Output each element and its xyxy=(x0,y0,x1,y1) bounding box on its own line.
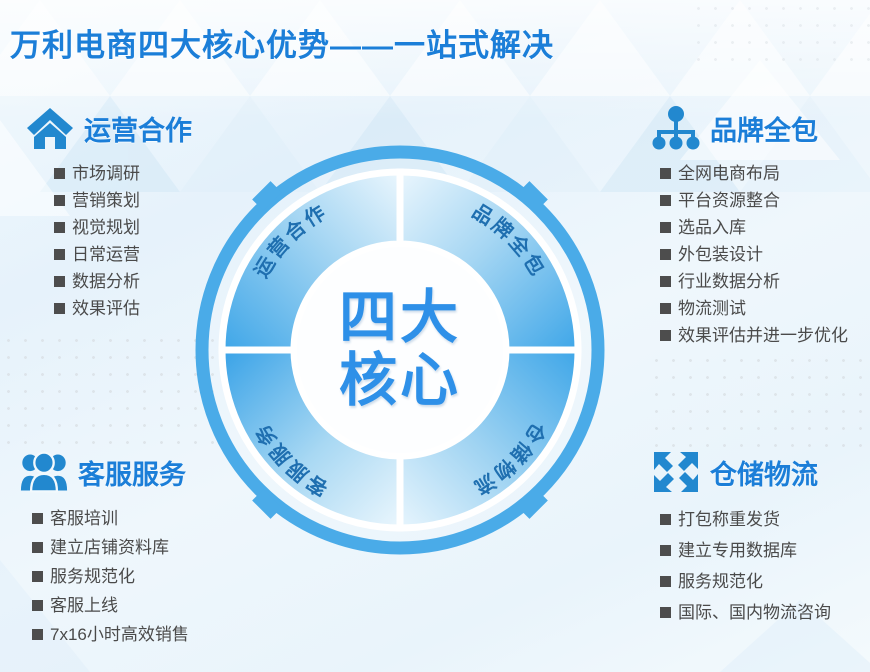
bullet-square-icon xyxy=(660,249,671,260)
quadrant-top-right-header: 品牌全包 xyxy=(652,104,848,152)
list-item-label: 市场调研 xyxy=(72,165,140,182)
list-item: 市场调研 xyxy=(54,160,192,187)
bullet-square-icon xyxy=(660,168,671,179)
list-item: 建立店铺资料库 xyxy=(32,533,189,562)
list-item: 外包装设计 xyxy=(660,241,848,268)
quadrant-bottom-left-list: 客服培训 建立店铺资料库 服务规范化 客服上线 7x16小时高效销售 xyxy=(32,504,189,649)
bullet-square-icon xyxy=(32,600,43,611)
quadrant-bottom-left: 客服服务 客服培训 建立店铺资料库 服务规范化 客服上线 7x16小时高效销售 xyxy=(20,448,189,649)
dot-grid-top-right xyxy=(690,0,870,70)
quadrant-bottom-right-header: 仓储物流 xyxy=(652,448,831,496)
bullet-square-icon xyxy=(660,545,671,556)
list-item: 建立专用数据库 xyxy=(660,535,831,566)
bullet-square-icon xyxy=(32,513,43,524)
quadrant-top-left-title: 运营合作 xyxy=(84,109,192,148)
quadrant-bottom-left-title: 客服服务 xyxy=(78,453,186,492)
list-item: 客服上线 xyxy=(32,591,189,620)
list-item: 行业数据分析 xyxy=(660,268,848,295)
quadrant-top-right-title: 品牌全包 xyxy=(710,109,818,148)
list-item-label: 外包装设计 xyxy=(678,246,763,263)
list-item: 选品入库 xyxy=(660,214,848,241)
list-item-label: 全网电商布局 xyxy=(678,165,780,182)
dot-grid-left xyxy=(0,332,215,450)
bullet-square-icon xyxy=(54,303,65,314)
list-item: 全网电商布局 xyxy=(660,160,848,187)
list-item: 效果评估 xyxy=(54,295,192,322)
list-item: 物流测试 xyxy=(660,295,848,322)
list-item-label: 效果评估并进一步优化 xyxy=(678,327,848,344)
list-item: 日常运营 xyxy=(54,241,192,268)
list-item: 打包称重发货 xyxy=(660,504,831,535)
list-item-label: 日常运营 xyxy=(72,246,140,263)
list-item-label: 建立专用数据库 xyxy=(678,542,797,559)
list-item-label: 7x16小时高效销售 xyxy=(50,626,189,643)
dot-grid-right xyxy=(648,352,870,460)
bullet-square-icon xyxy=(660,222,671,233)
bullet-square-icon xyxy=(660,607,671,618)
quadrant-top-right-list: 全网电商布局 平台资源整合 选品入库 外包装设计 行业数据分析 物流测试 效果评… xyxy=(660,160,848,349)
quadrant-top-left-header: 运营合作 xyxy=(26,104,192,152)
bullet-square-icon xyxy=(32,629,43,640)
list-item-label: 打包称重发货 xyxy=(678,511,780,528)
list-item-label: 营销策划 xyxy=(72,192,140,209)
list-item: 7x16小时高效销售 xyxy=(32,620,189,649)
list-item: 服务规范化 xyxy=(32,562,189,591)
list-item-label: 客服培训 xyxy=(50,510,118,527)
list-item-label: 客服上线 xyxy=(50,597,118,614)
list-item-label: 效果评估 xyxy=(72,300,140,317)
list-item: 国际、国内物流咨询 xyxy=(660,597,831,628)
list-item-label: 数据分析 xyxy=(72,273,140,290)
quadrant-top-left-list: 市场调研 营销策划 视觉规划 日常运营 数据分析 效果评估 xyxy=(54,160,192,322)
core-donut-chart: 运营合作 品牌全包 仓储物流 客服服务 四大 核心 xyxy=(194,144,606,556)
list-item-label: 国际、国内物流咨询 xyxy=(678,604,831,621)
org-chart-icon xyxy=(652,106,700,150)
four-arrows-expand-icon xyxy=(652,450,700,494)
list-item-label: 平台资源整合 xyxy=(678,192,780,209)
list-item-label: 服务规范化 xyxy=(50,568,135,585)
list-item: 数据分析 xyxy=(54,268,192,295)
quadrant-top-right: 品牌全包 全网电商布局 平台资源整合 选品入库 外包装设计 行业数据分析 物流测… xyxy=(652,104,848,349)
bullet-square-icon xyxy=(54,249,65,260)
list-item: 平台资源整合 xyxy=(660,187,848,214)
people-group-icon xyxy=(20,450,68,494)
quadrant-bottom-right-list: 打包称重发货 建立专用数据库 服务规范化 国际、国内物流咨询 xyxy=(660,504,831,628)
quadrant-bottom-right: 仓储物流 打包称重发货 建立专用数据库 服务规范化 国际、国内物流咨询 xyxy=(652,448,831,628)
list-item: 服务规范化 xyxy=(660,566,831,597)
quadrant-bottom-right-title: 仓储物流 xyxy=(710,453,818,492)
list-item-label: 服务规范化 xyxy=(678,573,763,590)
quadrant-top-left: 运营合作 市场调研 营销策划 视觉规划 日常运营 数据分析 效果评估 xyxy=(26,104,192,322)
infographic-canvas: 万利电商四大核心优势——一站式解决 xyxy=(0,0,870,672)
list-item-label: 选品入库 xyxy=(678,219,746,236)
list-item: 视觉规划 xyxy=(54,214,192,241)
bullet-square-icon xyxy=(660,303,671,314)
bullet-square-icon xyxy=(660,276,671,287)
list-item-label: 视觉规划 xyxy=(72,219,140,236)
list-item: 客服培训 xyxy=(32,504,189,533)
bullet-square-icon xyxy=(660,514,671,525)
list-item-label: 建立店铺资料库 xyxy=(50,539,169,556)
bullet-square-icon xyxy=(660,330,671,341)
list-item: 效果评估并进一步优化 xyxy=(660,322,848,349)
list-item-label: 行业数据分析 xyxy=(678,273,780,290)
bullet-square-icon xyxy=(660,576,671,587)
list-item: 营销策划 xyxy=(54,187,192,214)
bullet-square-icon xyxy=(660,195,671,206)
home-icon xyxy=(26,106,74,150)
page-title: 万利电商四大核心优势——一站式解决 xyxy=(10,20,554,65)
list-item-label: 物流测试 xyxy=(678,300,746,317)
bullet-square-icon xyxy=(54,222,65,233)
bullet-square-icon xyxy=(32,542,43,553)
bullet-square-icon xyxy=(54,276,65,287)
bullet-square-icon xyxy=(54,195,65,206)
quadrant-bottom-left-header: 客服服务 xyxy=(20,448,189,496)
bullet-square-icon xyxy=(54,168,65,179)
bullet-square-icon xyxy=(32,571,43,582)
